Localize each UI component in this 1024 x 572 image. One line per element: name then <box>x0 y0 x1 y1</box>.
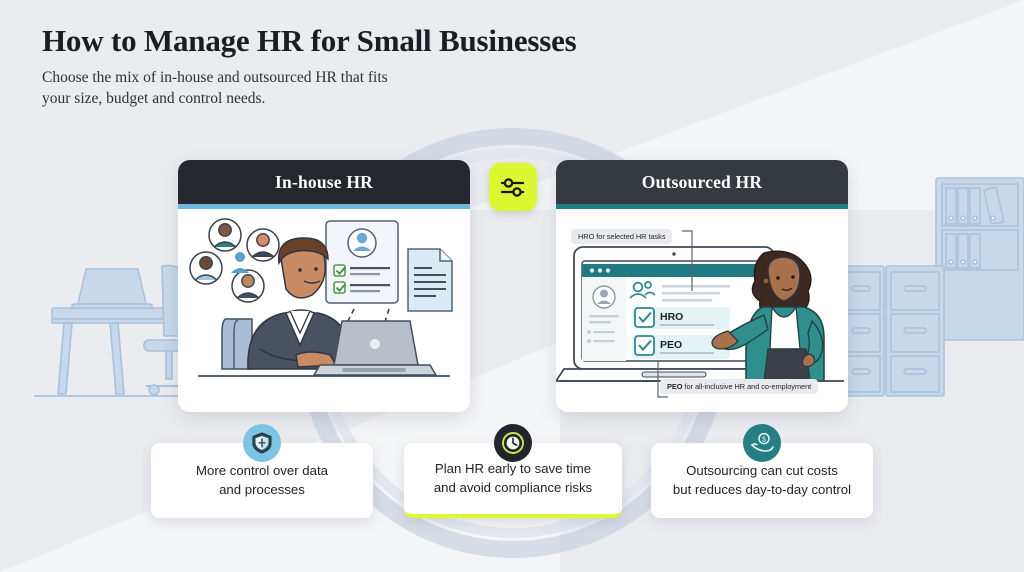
feature-card-cost-line-1: Outsourcing can cut costs <box>686 463 838 478</box>
filing-cabinets-and-bookshelf-decoration <box>840 168 1024 430</box>
sliders-badge[interactable] <box>489 163 537 211</box>
hand-coin-icon: $ <box>750 432 774 454</box>
panel-outsourced-header: Outsourced HR <box>556 160 848 204</box>
feature-card-planning-line-1: Plan HR early to save time <box>435 461 591 476</box>
svg-text:$: $ <box>762 437 766 444</box>
panel-in-house-title: In-house HR <box>275 172 373 193</box>
panel-outsourced-hr[interactable]: Outsourced HR <box>556 160 848 412</box>
callout-hro: HRO for selected HR tasks <box>571 229 672 244</box>
shield-icon-badge <box>243 424 281 462</box>
feature-card-cost-line-2: but reduces day-to-day control <box>673 482 851 497</box>
feature-card-control-line-2: and processes <box>219 482 305 497</box>
desk-with-laptop-and-chair-decoration <box>14 236 194 421</box>
panel-in-house-body <box>178 209 470 412</box>
infographic-canvas: How to Manage HR for Small Businesses Ch… <box>0 0 1024 572</box>
feature-card-planning-line-2: and avoid compliance risks <box>434 480 592 495</box>
panel-in-house-header: In-house HR <box>178 160 470 204</box>
subtitle-line-2: your size, budget and control needs. <box>42 88 577 109</box>
callout-hro-text: HRO for selected HR tasks <box>578 232 665 241</box>
clock-icon <box>501 431 525 455</box>
sliders-icon <box>499 175 527 199</box>
panel-in-house-hr[interactable]: In-house HR <box>178 160 470 412</box>
employee-at-desk-illustration <box>178 209 470 412</box>
panel-outsourced-title: Outsourced HR <box>642 172 762 193</box>
feature-card-control-line-1: More control over data <box>196 463 328 478</box>
screen-option-hro-label: HRO <box>660 311 683 323</box>
shield-icon <box>252 432 272 454</box>
callout-peo-bold: PEO <box>667 382 682 391</box>
page-title: How to Manage HR for Small Businesses <box>42 24 577 58</box>
header: How to Manage HR for Small Businesses Ch… <box>42 24 577 110</box>
screen-option-peo-label: PEO <box>660 339 682 351</box>
callout-peo-text: for all-inclusive HR and co-employment <box>682 382 811 391</box>
page-subtitle: Choose the mix of in-house and outsource… <box>42 67 577 110</box>
callout-peo: PEO for all-inclusive HR and co-employme… <box>660 379 818 394</box>
hand-coin-icon-badge: $ <box>743 424 781 462</box>
clock-icon-badge <box>494 424 532 462</box>
subtitle-line-1: Choose the mix of in-house and outsource… <box>42 67 577 88</box>
